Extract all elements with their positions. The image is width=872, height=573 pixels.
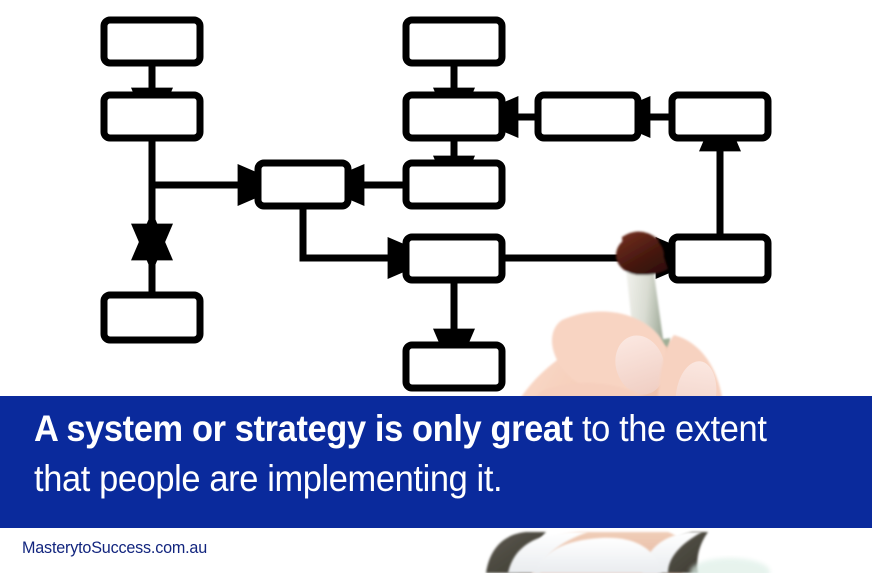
- hand-with-marker-photo: PILOT: [492, 225, 792, 398]
- node-M1: [406, 20, 502, 63]
- site-url-text[interactable]: MasterytoSuccess.com.au: [22, 538, 207, 558]
- hand-illustration: PILOT: [492, 225, 792, 398]
- quote-graphic: PILOT: [0, 0, 872, 573]
- node-R2: [672, 95, 768, 138]
- node-M4: [406, 237, 502, 280]
- hand: [492, 312, 724, 398]
- quote-bold-part: A system or strategy is only great: [34, 408, 573, 449]
- node-M5: [406, 345, 502, 388]
- node-C1: [258, 163, 348, 206]
- node-M2: [406, 95, 502, 138]
- node-L1: [104, 20, 200, 63]
- whiteboard-area: PILOT: [0, 0, 872, 398]
- node-L3: [104, 295, 200, 340]
- node-R1: [538, 95, 638, 138]
- node-L2: [104, 95, 200, 138]
- marker-tip-bulb: [616, 235, 664, 275]
- edge-C1-M4: [303, 206, 396, 258]
- person-collar-photo: [430, 528, 872, 573]
- quote-banner: A system or strategy is only great to th…: [0, 396, 872, 528]
- footer-bar: MasterytoSuccess.com.au: [0, 528, 872, 573]
- node-M3: [406, 163, 502, 206]
- quote-text-block: A system or strategy is only great to th…: [34, 404, 789, 504]
